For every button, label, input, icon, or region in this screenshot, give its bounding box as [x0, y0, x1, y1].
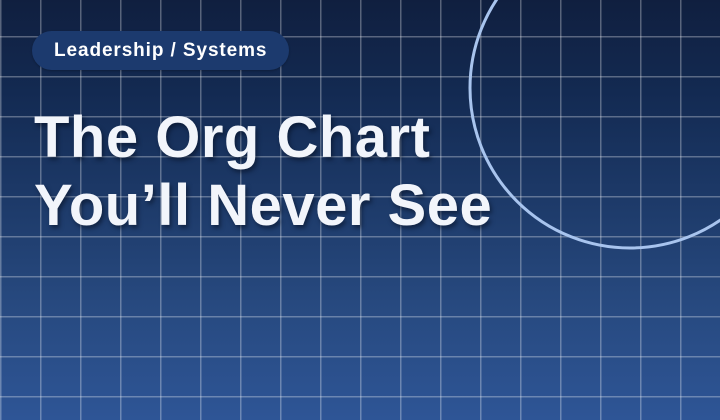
page-title-line-2: You’ll Never See	[34, 172, 694, 240]
page-title: The Org Chart You’ll Never See	[34, 104, 694, 240]
category-badge: Leadership / Systems	[32, 31, 289, 70]
category-badge-label: Leadership / Systems	[54, 41, 267, 60]
title-card: Leadership / Systems The Org Chart You’l…	[0, 0, 720, 420]
page-title-line-1: The Org Chart	[34, 104, 694, 172]
